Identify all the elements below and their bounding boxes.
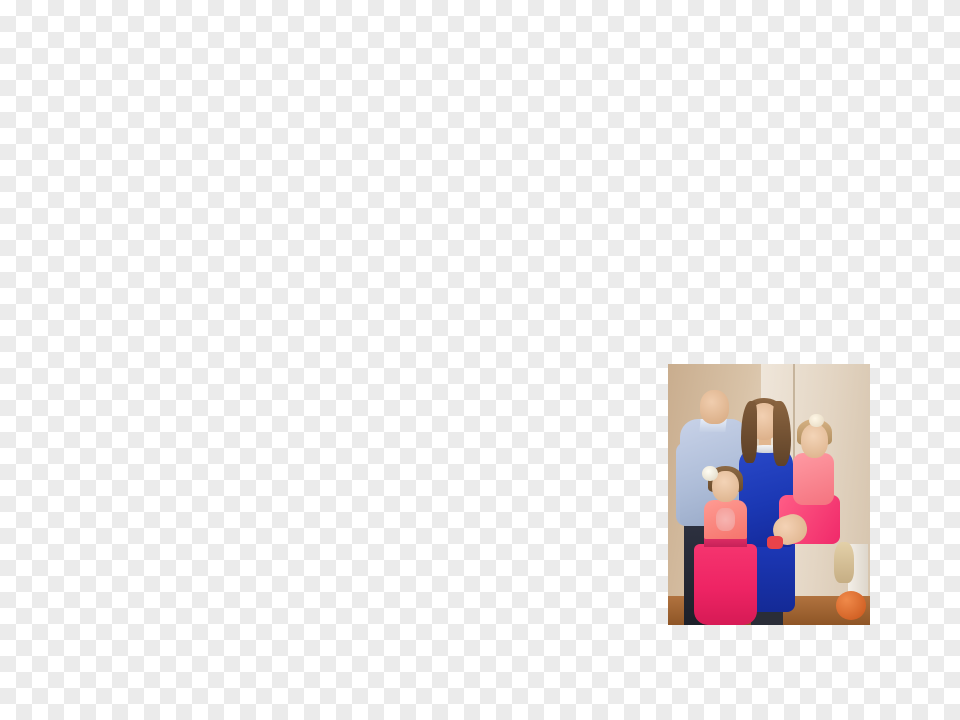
- photo-father-head: [700, 390, 728, 424]
- photo-toddler-shoe: [767, 536, 783, 549]
- photo-girl-print: [716, 508, 734, 531]
- photo-ball: [836, 591, 866, 620]
- photo-toy: [834, 542, 854, 584]
- family-photo: [668, 364, 870, 625]
- photo-girl-skirt: [694, 544, 757, 625]
- photo-mother-hair-left: [741, 401, 757, 464]
- photo-toddler-hairbow: [809, 414, 823, 427]
- photo-toddler-top: [793, 453, 833, 505]
- greeting-card: [0, 0, 960, 720]
- photo-toddler-head: [801, 424, 827, 458]
